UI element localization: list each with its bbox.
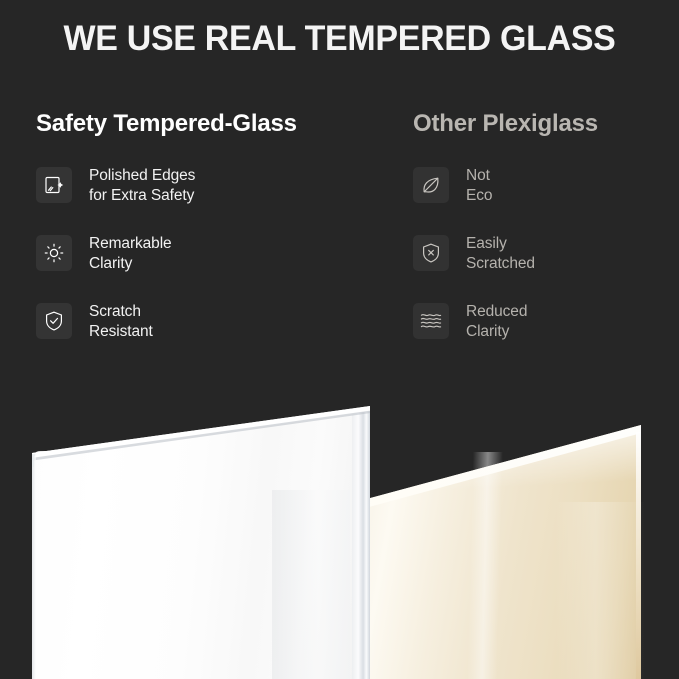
column-title-line2: Tempered-Glass bbox=[113, 110, 297, 137]
plexiglass-right-edge bbox=[636, 432, 641, 679]
page-title: WE USE REAL TEMPERED GLASS bbox=[10, 18, 669, 60]
feature-row: Remarkable Clarity bbox=[36, 233, 366, 301]
feature-label: Polished Edges for Extra Safety bbox=[89, 165, 195, 205]
column-title: Safety Tempered-Glass bbox=[36, 108, 366, 139]
feature-row: Polished Edges for Extra Safety bbox=[36, 165, 366, 233]
column-title-line1: Other bbox=[413, 110, 476, 137]
feature-label-line2: for Extra Safety bbox=[89, 186, 195, 206]
plexiglass-sheen-secondary bbox=[555, 502, 645, 679]
feature-label: Easily Scratched bbox=[466, 233, 535, 273]
plexiglass-sheen bbox=[467, 452, 503, 679]
column-safety-tempered-glass: Safety Tempered-Glass Polished Edges for… bbox=[36, 108, 366, 369]
feature-label: Reduced Clarity bbox=[466, 301, 527, 341]
feature-label-line1: Not bbox=[466, 166, 492, 186]
feature-row: Scratch Resistant bbox=[36, 301, 366, 369]
feature-label: Remarkable Clarity bbox=[89, 233, 172, 273]
tempered-glass-reflection bbox=[272, 490, 350, 679]
shield-check-icon bbox=[36, 303, 72, 339]
feature-row: Reduced Clarity bbox=[413, 301, 663, 369]
comparison-infographic: WE USE REAL TEMPERED GLASS Safety Temper… bbox=[0, 0, 679, 679]
tempered-glass-left-edge bbox=[32, 454, 36, 679]
feature-label-line2: Scratched bbox=[466, 254, 535, 274]
tempered-glass-rounded-corner bbox=[32, 451, 48, 467]
feature-label-line2: Clarity bbox=[89, 254, 172, 274]
feature-label-line1: Polished Edges bbox=[89, 166, 195, 186]
feature-label-line2: Eco bbox=[466, 186, 492, 206]
tempered-glass-right-edge bbox=[352, 406, 370, 679]
wavy-distortion-icon bbox=[413, 303, 449, 339]
column-other-plexiglass: Other Plexiglass Not Eco bbox=[413, 108, 663, 369]
feature-label-line2: Clarity bbox=[466, 322, 527, 342]
column-title-line1: Safety bbox=[36, 110, 107, 137]
feature-label-line2: Resistant bbox=[89, 322, 153, 342]
shield-x-icon bbox=[413, 235, 449, 271]
feature-label: Scratch Resistant bbox=[89, 301, 153, 341]
polished-edge-sparkle-icon bbox=[36, 167, 72, 203]
feature-label: Not Eco bbox=[466, 165, 492, 205]
product-photo bbox=[0, 392, 679, 679]
column-title-line2: Plexiglass bbox=[482, 110, 597, 137]
brightness-sun-icon bbox=[36, 235, 72, 271]
feature-label-line1: Easily bbox=[466, 234, 535, 254]
feature-label-line1: Scratch bbox=[89, 302, 153, 322]
feature-row: Not Eco bbox=[413, 165, 663, 233]
column-title: Other Plexiglass bbox=[413, 108, 663, 139]
feature-label-line1: Reduced bbox=[466, 302, 527, 322]
leaf-crossed-out-icon bbox=[413, 167, 449, 203]
feature-row: Easily Scratched bbox=[413, 233, 663, 301]
feature-label-line1: Remarkable bbox=[89, 234, 172, 254]
